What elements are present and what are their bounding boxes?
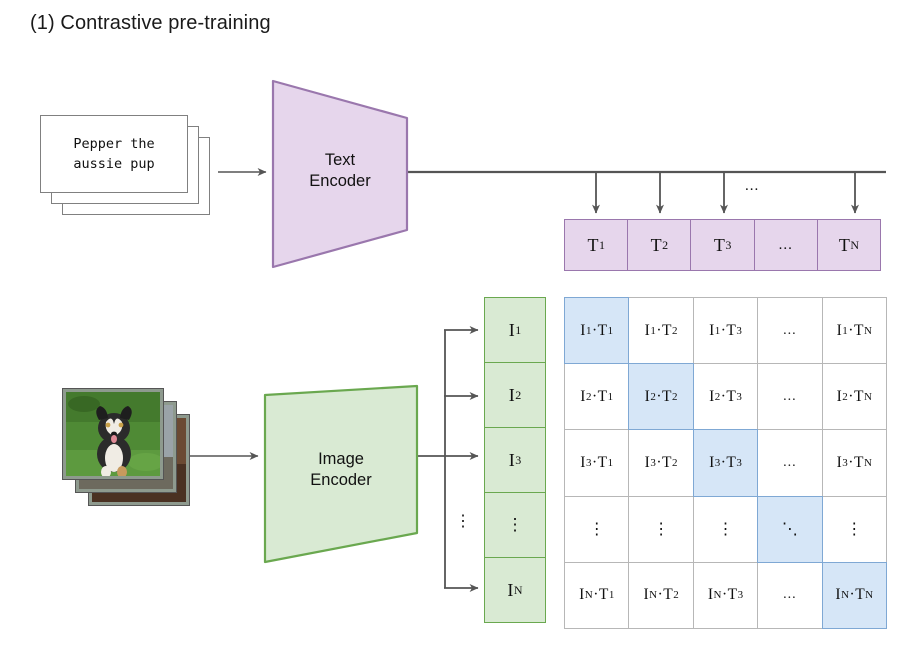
image-embedding-cell-I1: I1: [484, 297, 546, 363]
matrix-cell: I2·TN: [822, 363, 887, 430]
matrix-cell: I1·T2: [628, 297, 693, 364]
image-embedding-cell-I2: I2: [484, 362, 546, 428]
matrix-cell: IN·T3: [693, 562, 758, 629]
text-card-front: Pepper the aussie pup: [40, 115, 188, 193]
image-encoder-label: Image Encoder: [262, 449, 420, 491]
matrix-cell: ⋱: [757, 496, 822, 563]
photo-front-frame: [63, 389, 163, 479]
matrix-cell: ...: [757, 363, 822, 430]
matrix-cell: I3·T1: [564, 429, 629, 496]
matrix-cell: IN·T2: [628, 562, 693, 629]
matrix-cell: I2·T2: [628, 363, 693, 430]
text-embedding-cell-TN: TN: [817, 219, 881, 271]
photo-front: [62, 388, 164, 480]
matrix-cell: ...: [757, 297, 822, 364]
matrix-cell: I2·T3: [693, 363, 758, 430]
matrix-cell: I1·T1: [564, 297, 629, 364]
matrix-cell: ...: [757, 562, 822, 629]
clip-contrastive-pretraining-diagram: (1) Contrastive pre-training P: [0, 0, 906, 654]
matrix-cell: IN·T1: [564, 562, 629, 629]
image-embedding-cell-IN: IN: [484, 557, 546, 623]
image-embedding-ellipsis: ⋮: [455, 511, 471, 531]
image-embedding-column: I1I2I3⋮IN: [484, 297, 546, 622]
matrix-cell: I3·T3: [693, 429, 758, 496]
image-input-stack: [62, 388, 212, 508]
text-embedding-cell-T3: T3: [690, 219, 754, 271]
matrix-cell: ⋮: [564, 496, 629, 563]
matrix-cell: I1·TN: [822, 297, 887, 364]
text-encoder-label: Text Encoder: [270, 150, 410, 192]
text-embedding-row: T1T2T3...TN: [564, 219, 880, 271]
image-embedding-cell-I3: I3: [484, 427, 546, 493]
similarity-matrix: I1·T1I1·T2I1·T3...I1·TNI2·T1I2·T2I2·T3..…: [564, 297, 886, 628]
text-embedding-ellipsis: ...: [745, 178, 759, 195]
matrix-cell: I3·TN: [822, 429, 887, 496]
matrix-cell: ⋮: [822, 496, 887, 563]
matrix-cell: ⋮: [628, 496, 693, 563]
matrix-cell: ⋮: [693, 496, 758, 563]
text-input-stack: Pepper the aussie pup: [40, 115, 220, 225]
text-encoder-block[interactable]: Text Encoder: [270, 78, 410, 270]
text-embedding-cell-T2: T2: [627, 219, 691, 271]
matrix-cell: I3·T2: [628, 429, 693, 496]
text-embedding-cell-ellipsis: ...: [754, 219, 818, 271]
matrix-cell: I2·T1: [564, 363, 629, 430]
text-card-label: Pepper the aussie pup: [73, 134, 154, 174]
image-encoder-block[interactable]: Image Encoder: [262, 383, 420, 565]
text-embedding-cell-T1: T1: [564, 219, 628, 271]
page-title: (1) Contrastive pre-training: [30, 12, 271, 35]
matrix-cell: I1·T3: [693, 297, 758, 364]
matrix-cell: ...: [757, 429, 822, 496]
matrix-cell: IN·TN: [822, 562, 887, 629]
image-embedding-cell-ellipsis: ⋮: [484, 492, 546, 558]
